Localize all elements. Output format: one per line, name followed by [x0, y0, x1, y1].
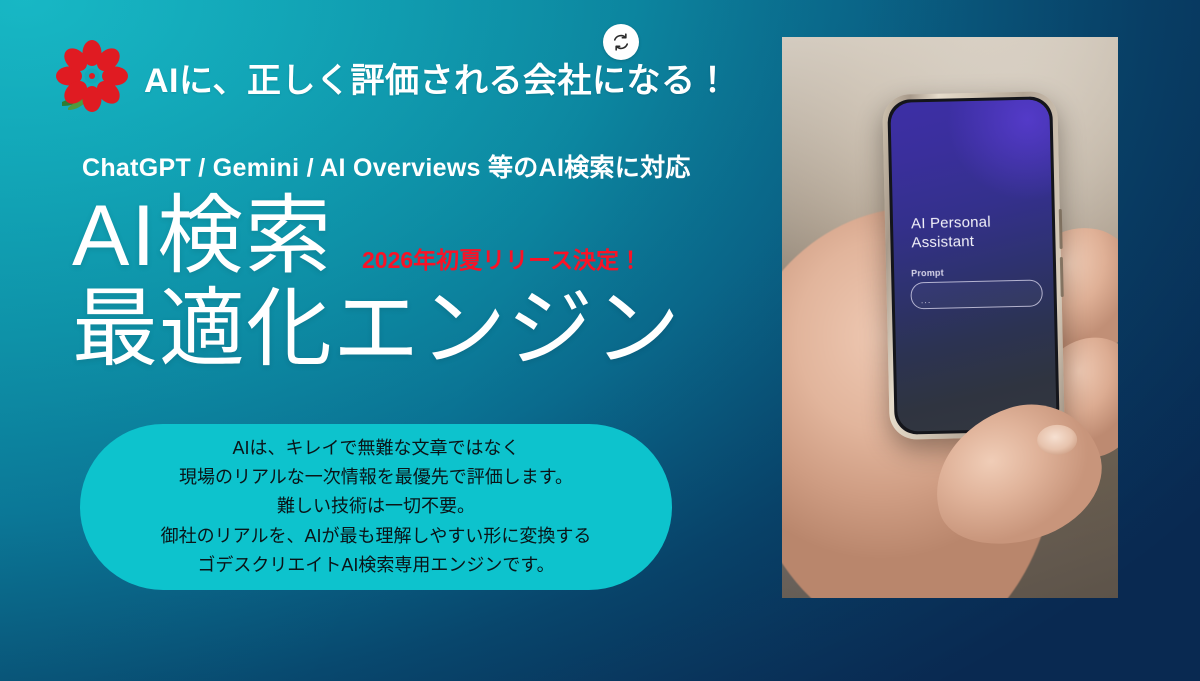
release-date-badge: 2026年初夏リリース決定！ [362, 241, 642, 275]
callout-line: AIは、キレイで無難な文章ではなく [232, 434, 519, 463]
callout-line: 現場のリアルな一次情報を最優先で評価します。 [179, 463, 573, 492]
thumb-nail [1037, 424, 1078, 455]
callout-line: 難しい技術は一切不要。 [277, 492, 475, 521]
phone-prompt-input-value: ... [921, 295, 932, 305]
phone-screen: AI Personal Assistant Prompt ... [890, 99, 1056, 432]
hand-holding-smartphone-photo: AI Personal Assistant Prompt ... [782, 37, 1118, 598]
screen-gradient-glow [890, 99, 1056, 432]
phone-prompt-input[interactable]: ... [910, 279, 1043, 309]
page-title: AI検索 最適化エンジン [72, 190, 681, 376]
callout-line: 御社のリアルを、AIが最も理解しやすい形に変換する [161, 522, 592, 551]
title-line-2: 最適化エンジン [72, 283, 681, 376]
callout-line: ゴデスクリエイトAI検索専用エンジンです。 [197, 551, 554, 580]
hero-banner: AIに、正しく評価される会社になる！ ChatGPT / Gemini / AI… [0, 0, 1200, 681]
phone-prompt-label: Prompt [911, 268, 944, 279]
red-flower-logo-icon [56, 40, 128, 114]
phone-bezel: AI Personal Assistant Prompt ... [887, 96, 1060, 435]
description-callout: AIは、キレイで無難な文章ではなく 現場のリアルな一次情報を最優先で評価します。… [80, 424, 672, 590]
subheadline: ChatGPT / Gemini / AI Overviews 等のAI検索に対… [82, 148, 691, 184]
refresh-sync-icon[interactable] [603, 24, 639, 60]
phone-app-title: AI Personal Assistant [911, 211, 1053, 253]
smartphone-device: AI Personal Assistant Prompt ... [882, 91, 1065, 440]
page-headline: AIに、正しく評価される会社になる！ [144, 53, 730, 102]
